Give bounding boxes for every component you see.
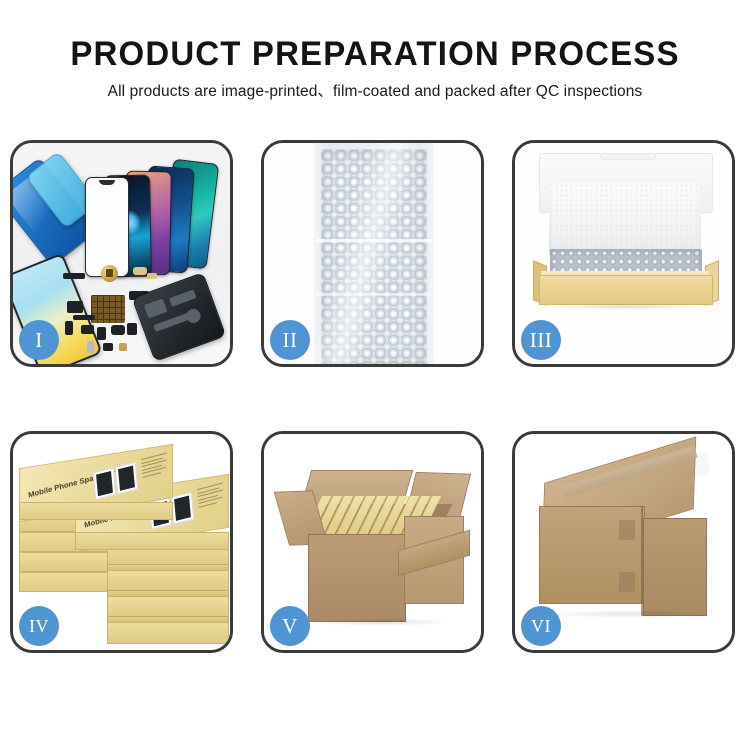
step-panel-phone-parts: I: [10, 140, 233, 367]
step-panel-boxes-stacked: Mobile Phone Spare Parts Mobile Phone Sp…: [10, 431, 233, 653]
speaker-part-icon: [101, 265, 118, 282]
phone-screen-fan: [83, 161, 230, 276]
foam-sheet-icon: [549, 183, 701, 255]
step-panel-carton-filling: V: [261, 431, 484, 653]
step-badge-5: V: [270, 606, 310, 646]
step-panel-carton-sealed: VI: [512, 431, 735, 653]
carton-right-face-icon: [643, 518, 707, 616]
step-badge-4: IV: [19, 606, 59, 646]
open-carton-icon: [286, 456, 466, 636]
step-badge-1: I: [19, 320, 59, 360]
step-badge-6: VI: [521, 606, 561, 646]
page-title: PRODUCT PREPARATION PROCESS: [11, 34, 739, 74]
header: PRODUCT PREPARATION PROCESS All products…: [0, 0, 750, 103]
kraft-box-front-icon: [539, 275, 713, 305]
connector-grid-part-icon: [91, 295, 125, 323]
phone-screen-glass-icon: [85, 177, 129, 277]
carton-front-face-icon: [308, 534, 406, 622]
page-subtitle: All products are image-printed、film-coat…: [0, 81, 750, 103]
product-preparation-infographic: PRODUCT PREPARATION PROCESS All products…: [0, 0, 750, 750]
step-panel-inner-box: III: [512, 140, 735, 367]
steps-grid: I II: [10, 140, 740, 653]
step-panel-bubble-wrap: II: [261, 140, 484, 367]
step-badge-2: II: [270, 320, 310, 360]
sealed-carton-icon: [533, 460, 719, 628]
step-badge-3: III: [521, 320, 561, 360]
